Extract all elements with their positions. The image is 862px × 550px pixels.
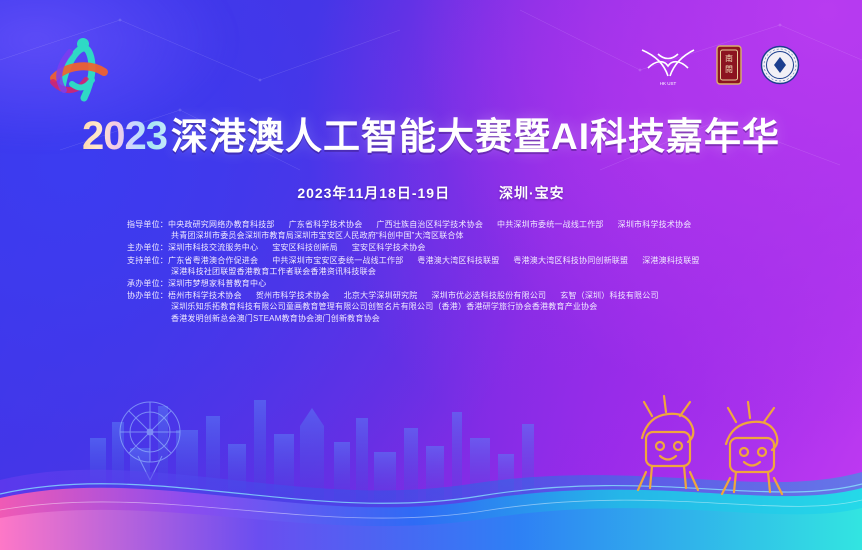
- org-line: 梧州市科学技术协会贺州市科学技术协会北京大学深圳研究院深圳市优必选科技股份有限公…: [168, 291, 673, 300]
- title-main: 深港澳人工智能大赛暨AI科技嘉年华: [171, 116, 780, 157]
- org-item: 香港研学旅行协会: [466, 302, 532, 311]
- org-group-organizer: 承办单位： 深圳市梦想家科普教育中心: [127, 278, 767, 289]
- hkust-bird-logo: HK UST: [638, 42, 698, 88]
- org-item: 深圳市科技交流服务中心: [168, 242, 258, 253]
- org-item: 广东省科学技术协会: [289, 219, 363, 230]
- org-item: 深圳市梦想家科普教育中心: [168, 278, 266, 289]
- svg-text:閱: 閱: [725, 65, 733, 74]
- organization-credits: 指导单位： 中央政研究网络办教育科技部广东省科学技术协会广西壮族自治区科学技术协…: [127, 219, 767, 325]
- org-item: 广西壮族自治区科学技术协会: [376, 219, 483, 230]
- org-group-co-organizer: 协办单位： 梧州市科学技术协会贺州市科学技术协会北京大学深圳研究院深圳市优必选科…: [127, 290, 767, 324]
- ai-competition-logo: [48, 32, 114, 102]
- org-item: 澳门创新教育协会: [314, 314, 380, 323]
- org-group-host: 主办单位： 深圳市科技交流服务中心宝安区科技创新局宝安区科学技术协会: [127, 242, 767, 253]
- org-item: 中共深圳市委统一战线工作部: [497, 219, 604, 230]
- conference-poster: HK UST 南 閱 2023深港澳人工智能大赛暨AI科技嘉年华 2023年11…: [0, 0, 862, 550]
- org-label: 协办单位：: [127, 290, 168, 301]
- org-item: 香港教育产业协会: [532, 302, 598, 311]
- org-item: 深圳市宝安区人民政府: [294, 231, 376, 240]
- org-label: 指导单位：: [127, 219, 168, 230]
- org-item: 宝安区科学技术协会: [352, 242, 426, 253]
- red-seal-logo: 南 閱: [716, 45, 742, 85]
- org-label: 主办单位：: [127, 242, 168, 253]
- org-item: 粤港澳大湾区科技联盟: [417, 255, 499, 266]
- org-line: 深圳市梦想家科普教育中心: [168, 279, 280, 288]
- org-line: 深圳市科技交流服务中心宝安区科技创新局宝安区科学技术协会: [168, 243, 440, 252]
- org-item: 香港资讯科技联会: [310, 267, 376, 276]
- round-university-emblem-logo: [760, 45, 800, 85]
- org-label: 承办单位：: [127, 278, 168, 289]
- org-group-guiding: 指导单位： 中央政研究网络办教育科技部广东省科学技术协会广西壮族自治区科学技术协…: [127, 219, 767, 241]
- org-item: 贺州市科学技术协会: [256, 290, 330, 301]
- org-item: 共青团深圳市委员会: [171, 231, 245, 240]
- event-meta: 2023年11月18日-19日 深圳·宝安: [0, 183, 862, 203]
- org-item: 香港发明创新总会: [171, 314, 237, 323]
- org-item: 梧州市科学技术协会: [168, 290, 242, 301]
- org-label: 支持单位：: [127, 255, 168, 266]
- ai-robot-mascots: [622, 388, 807, 498]
- org-item: 深圳乐知乐拓教育科技有限公司: [171, 302, 286, 311]
- org-item: “科创中国”大湾区联合体: [376, 231, 464, 240]
- svg-text:南: 南: [725, 53, 733, 63]
- org-item: 深港澳科技联盟: [642, 255, 699, 266]
- org-line: 香港发明创新总会澳门STEAM教育协会澳门创新教育协会: [127, 313, 767, 324]
- org-item: 玄智（深圳）科技有限公司: [560, 290, 658, 301]
- partner-logos: HK UST 南 閱: [638, 42, 800, 88]
- org-line: 中央政研究网络办教育科技部广东省科学技术协会广西壮族自治区科学技术协会中共深圳市…: [168, 220, 705, 229]
- org-item: 深港科技社团联盟: [171, 267, 237, 276]
- org-line: 深港科技社团联盟香港教育工作者联会香港资讯科技联会: [127, 266, 767, 277]
- org-line: 共青团深圳市委员会深圳市教育局深圳市宝安区人民政府“科创中国”大湾区联合体: [127, 230, 767, 241]
- org-item: 宝安区科技创新局: [272, 242, 338, 253]
- poster-title: 2023深港澳人工智能大赛暨AI科技嘉年华: [82, 116, 780, 156]
- event-date: 2023年11月18日-19日: [297, 185, 450, 201]
- org-item: 童画教育管理有限公司: [286, 302, 368, 311]
- org-line: 深圳乐知乐拓教育科技有限公司童画教育管理有限公司创智名片有限公司（香港）香港研学…: [127, 301, 767, 312]
- event-place: 深圳·宝安: [499, 185, 565, 201]
- org-item: 中共深圳市宝安区委统一战线工作部: [272, 255, 403, 266]
- org-line: 广东省粤港澳合作促进会中共深圳市宝安区委统一战线工作部粤港澳大湾区科技联盟粤港澳…: [168, 256, 714, 265]
- org-item: 香港教育工作者联会: [237, 267, 311, 276]
- svg-text:HK UST: HK UST: [660, 81, 677, 86]
- org-item: 深圳市教育局: [245, 231, 294, 240]
- org-item: 北京大学深圳研究院: [344, 290, 418, 301]
- org-item: 深圳市科学技术协会: [618, 219, 692, 230]
- org-group-support: 支持单位： 广东省粤港澳合作促进会中共深圳市宝安区委统一战线工作部粤港澳大湾区科…: [127, 255, 767, 277]
- org-item: 粤港澳大湾区科技协同创新联盟: [513, 255, 628, 266]
- org-item: 中央政研究网络办教育科技部: [168, 219, 275, 230]
- org-item: 广东省粤港澳合作促进会: [168, 255, 258, 266]
- poster-title-wrap: 2023深港澳人工智能大赛暨AI科技嘉年华: [0, 116, 862, 156]
- org-item: 深圳市优必选科技股份有限公司: [431, 290, 546, 301]
- org-item: 澳门STEAM教育协会: [237, 314, 315, 323]
- org-item: 创智名片有限公司（香港）: [368, 302, 466, 311]
- title-year: 2023: [82, 114, 171, 158]
